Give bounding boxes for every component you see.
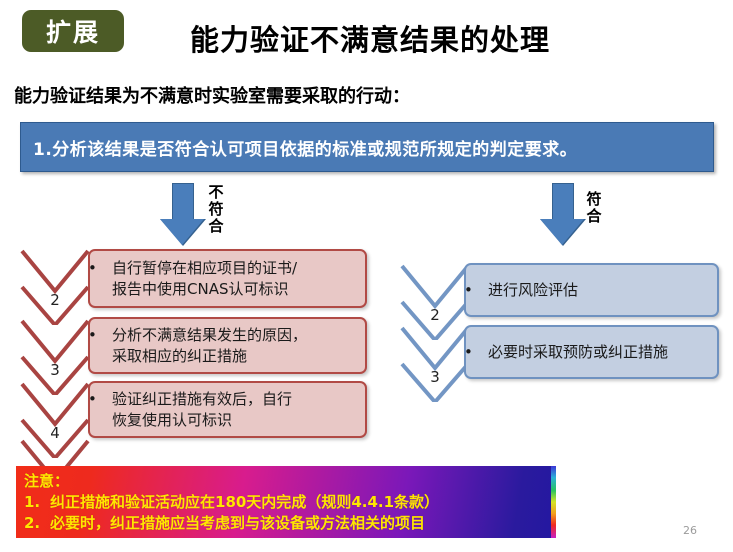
page-title: 能力验证不满意结果的处理 [150, 16, 590, 60]
right-step-3-line-0: 必要时采取预防或纠正措施 [476, 342, 668, 363]
left-step-4-line-0: 验证纠正措施有效后，自行 [100, 389, 292, 410]
branch-label-conforming-char-1: 合 [585, 208, 603, 225]
chevron-left-step-2-number: 2 [18, 291, 92, 309]
extension-badge-label: 扩展 [46, 13, 100, 49]
left-step-3-line-0: 分析不满意结果发生的原因， [100, 325, 307, 346]
chevron-left-step-2: 2 [18, 247, 92, 325]
right-step-2-line-0: 进行风险评估 [476, 280, 578, 301]
step-1-banner: 1.分析该结果是否符合认可项目依据的标准或规范所规定的判定要求。 [20, 122, 714, 172]
arrow-head [160, 219, 204, 245]
left-step-3-text: 分析不满意结果发生的原因， 采取相应的纠正措施 [90, 325, 315, 367]
note-content: 注意： 1.纠正措施和验证活动应在180天内完成（规则4.4.1条款） 2.必要… [24, 471, 439, 534]
branch-label-nonconforming-char-2: 合 [207, 218, 225, 235]
right-step-3-box: 必要时采取预防或纠正措施 [464, 325, 719, 379]
right-step-2-text: 进行风险评估 [466, 280, 586, 301]
note-item-1-index: 1. [24, 492, 50, 513]
note-item-2-text: 必要时，纠正措施应当考虑到与该设备或方法相关的项目 [50, 514, 425, 532]
note-box-rainbow-border [551, 466, 556, 538]
note-item-2: 2.必要时，纠正措施应当考虑到与该设备或方法相关的项目 [24, 513, 439, 534]
left-step-2-box: 自行暂停在相应项目的证书/ 报告中使用CNAS认可标识 [88, 249, 367, 308]
chevron-left-step-3-number: 3 [18, 361, 92, 379]
chevron-right-step-3-number: 3 [398, 368, 472, 386]
note-heading: 注意： [24, 471, 439, 492]
left-step-2-line-0: 自行暂停在相应项目的证书/ [100, 258, 297, 279]
left-step-3-box: 分析不满意结果发生的原因， 采取相应的纠正措施 [88, 317, 367, 374]
chevron-down-icon [398, 324, 472, 402]
page-number: 26 [683, 524, 697, 537]
chevron-right-step-2-number: 2 [398, 306, 472, 324]
left-step-4-line-1: 恢复使用认可标识 [100, 410, 292, 431]
page-title-text: 能力验证不满意结果的处理 [190, 17, 550, 59]
subtitle-text: 能力验证结果为不满意时实验室需要采取的行动： [14, 86, 410, 107]
arrow-head [540, 219, 584, 245]
arrow-down-nonconforming-icon [160, 183, 204, 245]
left-step-2-text: 自行暂停在相应项目的证书/ 报告中使用CNAS认可标识 [90, 258, 305, 300]
subtitle: 能力验证结果为不满意时实验室需要采取的行动： [14, 82, 410, 108]
branch-label-nonconforming-char-1: 符 [207, 201, 225, 218]
note-item-2-index: 2. [24, 513, 50, 534]
branch-label-nonconforming-char-0: 不 [207, 184, 225, 201]
branch-label-conforming: 符 合 [585, 191, 603, 225]
chevron-right-step-3: 3 [398, 324, 472, 402]
note-box: 注意： 1.纠正措施和验证活动应在180天内完成（规则4.4.1条款） 2.必要… [16, 466, 556, 538]
branch-label-nonconforming: 不 符 合 [207, 184, 225, 235]
branch-label-conforming-char-0: 符 [585, 191, 603, 208]
left-step-4-text: 验证纠正措施有效后，自行 恢复使用认可标识 [90, 389, 300, 431]
left-step-2-line-1: 报告中使用CNAS认可标识 [100, 279, 297, 300]
chevron-down-icon [18, 247, 92, 325]
arrow-shaft [172, 183, 194, 222]
note-item-1-text: 纠正措施和验证活动应在180天内完成（规则4.4.1条款） [50, 493, 439, 511]
extension-badge: 扩展 [22, 10, 124, 52]
step-1-banner-text: 1.分析该结果是否符合认可项目依据的标准或规范所规定的判定要求。 [21, 135, 577, 160]
slide-root: 扩展 能力验证不满意结果的处理 能力验证结果为不满意时实验室需要采取的行动： 1… [0, 0, 733, 552]
left-step-3-line-1: 采取相应的纠正措施 [100, 346, 307, 367]
right-step-3-text: 必要时采取预防或纠正措施 [466, 342, 676, 363]
left-step-4-box: 验证纠正措施有效后，自行 恢复使用认可标识 [88, 381, 367, 438]
note-item-1: 1.纠正措施和验证活动应在180天内完成（规则4.4.1条款） [24, 492, 439, 513]
arrow-down-conforming-icon [540, 183, 584, 245]
right-step-2-box: 进行风险评估 [464, 263, 719, 317]
arrow-shaft [552, 183, 574, 222]
